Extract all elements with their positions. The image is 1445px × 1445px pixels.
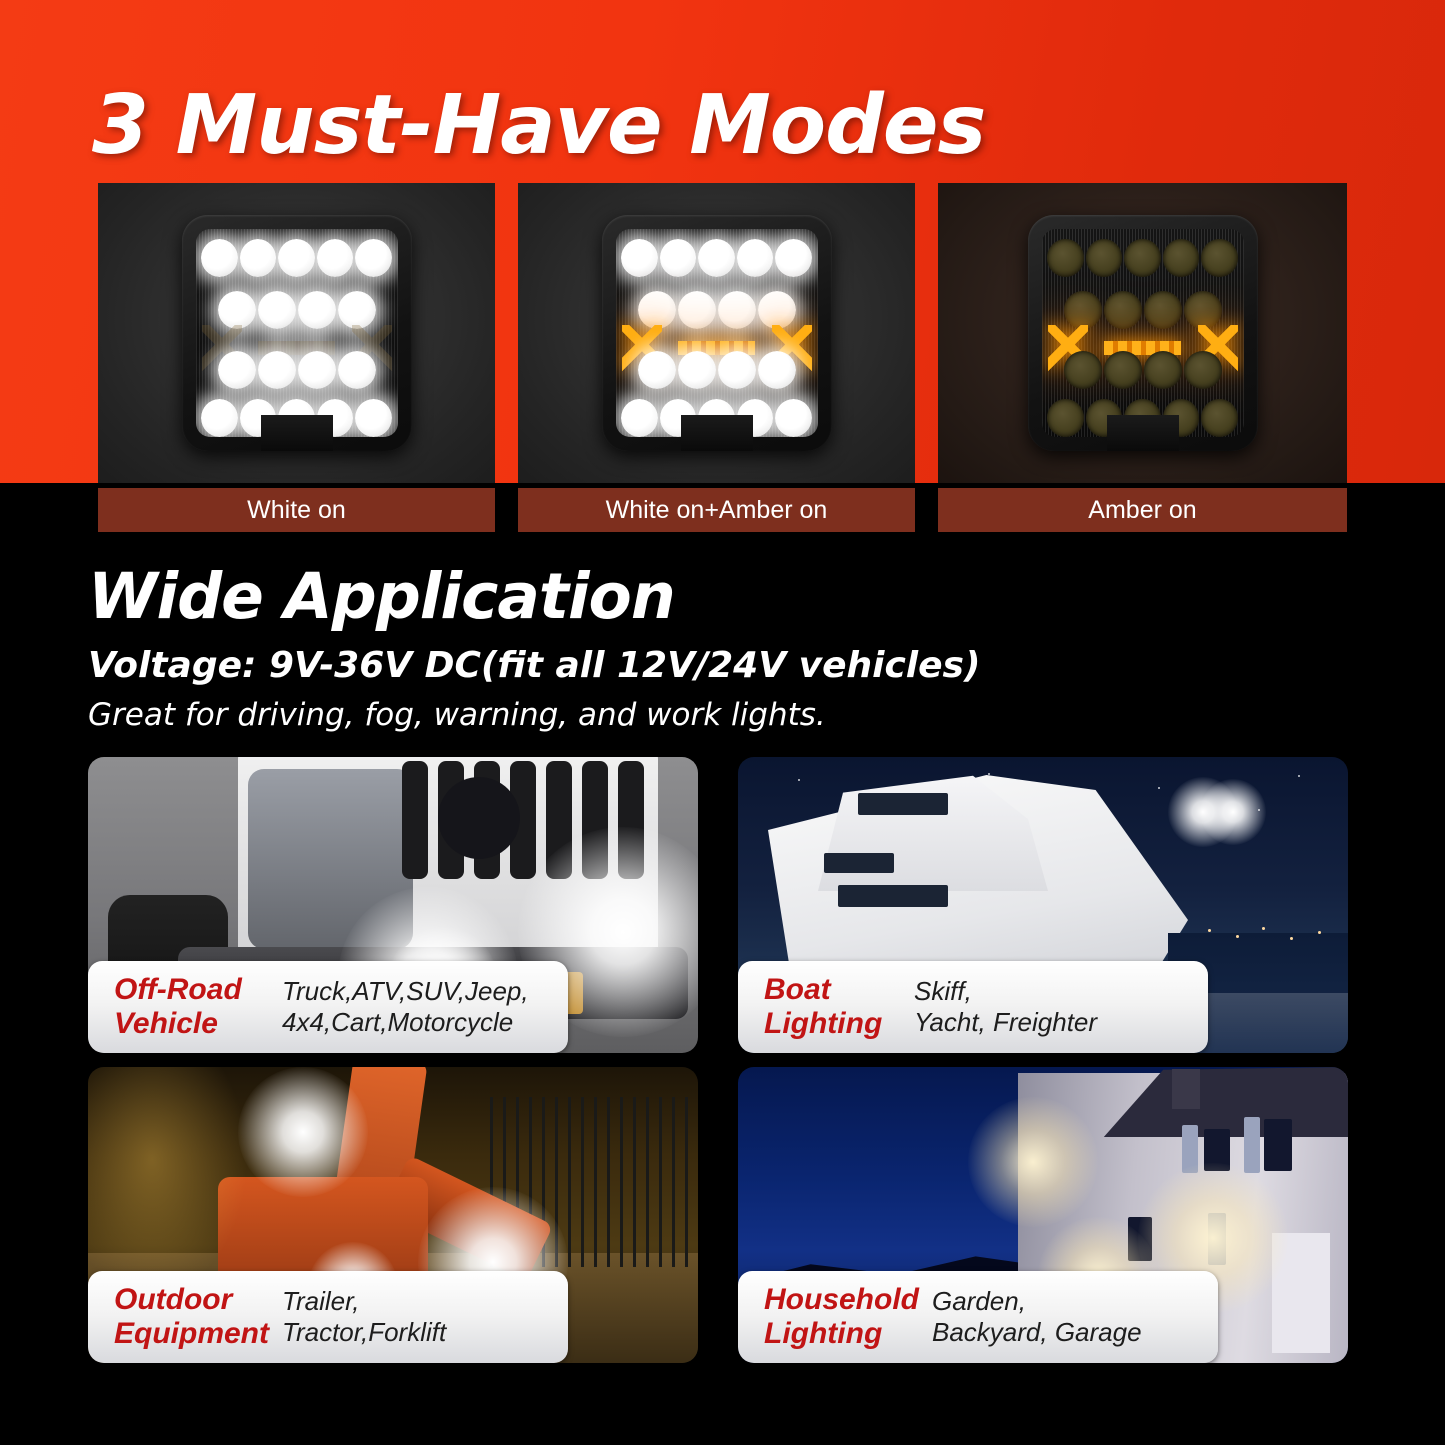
application-card-boat-lighting: Boat Lighting Skiff, Yacht, Freighter (738, 757, 1348, 1053)
card-title-line1: Boat (764, 973, 914, 1007)
application-card-outdoor-equipment: Outdoor Equipment Trailer, Tractor,Forkl… (88, 1067, 698, 1363)
led-row (1048, 291, 1238, 329)
mode-label-amber-on: Amber on (938, 488, 1347, 532)
led-row (622, 291, 812, 329)
product-infographic: 3 Must-Have Modes (0, 0, 1445, 1445)
voltage-spec-text: Voltage: 9V-36V DC(fit all 12V/24V vehic… (88, 645, 980, 686)
card-title-line1: Household (764, 1283, 932, 1317)
section-heading-wide-application: Wide Application (88, 560, 675, 633)
led-lamp-white-amber (602, 215, 832, 451)
card-subtitle: Garden, Backyard, Garage (932, 1286, 1142, 1348)
application-card-off-road-vehicle: Off-Road Vehicle Truck,ATV,SUV,Jeep, 4x4… (88, 757, 698, 1053)
led-row (1048, 239, 1238, 277)
led-row (622, 239, 812, 277)
application-card-household-lighting: Household Lighting Garden, Backyard, Gar… (738, 1067, 1348, 1363)
card-sub-line2: 4x4,Cart,Motorcycle (282, 1007, 529, 1038)
mode-panel-amber-on (938, 183, 1347, 483)
led-lamp-amber-on (1028, 215, 1258, 451)
led-row (202, 351, 392, 389)
lamp-mount-bracket (261, 415, 333, 451)
lamp-mount-bracket (1107, 415, 1179, 451)
card-title-line2: Lighting (764, 1007, 914, 1041)
mode-panels (0, 183, 1445, 483)
card-sub-line1: Garden, (932, 1286, 1142, 1317)
card-title-line2: Vehicle (114, 1007, 282, 1041)
card-caption: Outdoor Equipment Trailer, Tractor,Forkl… (88, 1271, 568, 1363)
mode-label-white-amber: White on+Amber on (518, 488, 915, 532)
led-row (622, 351, 812, 389)
led-lamp-white-on (182, 215, 412, 451)
card-title-line2: Lighting (764, 1317, 932, 1351)
card-title: Boat Lighting (738, 973, 914, 1040)
card-caption: Household Lighting Garden, Backyard, Gar… (738, 1271, 1218, 1363)
mode-label-white-on: White on (98, 488, 495, 532)
card-sub-line1: Trailer, (282, 1286, 446, 1317)
card-title-line1: Outdoor (114, 1283, 282, 1317)
card-title-line1: Off-Road (114, 973, 282, 1007)
card-title: Outdoor Equipment (88, 1283, 282, 1350)
mode-panel-white-on (98, 183, 495, 483)
lamp-mount-bracket (681, 415, 753, 451)
card-subtitle: Skiff, Yacht, Freighter (914, 976, 1097, 1038)
led-row (202, 291, 392, 329)
mode-panel-white-amber (518, 183, 915, 483)
lamp-lens (196, 229, 398, 437)
card-sub-line2: Tractor,Forklift (282, 1317, 446, 1348)
card-subtitle: Trailer, Tractor,Forklift (282, 1286, 446, 1348)
lamp-lens (1042, 229, 1244, 437)
card-caption: Off-Road Vehicle Truck,ATV,SUV,Jeep, 4x4… (88, 961, 568, 1053)
card-subtitle: Truck,ATV,SUV,Jeep, 4x4,Cart,Motorcycle (282, 976, 529, 1038)
card-caption: Boat Lighting Skiff, Yacht, Freighter (738, 961, 1208, 1053)
page-title: 3 Must-Have Modes (92, 78, 1092, 173)
card-title: Household Lighting (738, 1283, 932, 1350)
lamp-lens (616, 229, 818, 437)
card-sub-line1: Skiff, (914, 976, 1097, 1007)
usage-description-text: Great for driving, fog, warning, and wor… (88, 697, 826, 733)
card-title-line2: Equipment (114, 1317, 282, 1351)
card-sub-line2: Yacht, Freighter (914, 1007, 1097, 1038)
card-sub-line2: Backyard, Garage (932, 1317, 1142, 1348)
card-sub-line1: Truck,ATV,SUV,Jeep, (282, 976, 529, 1007)
card-title: Off-Road Vehicle (88, 973, 282, 1040)
led-row (202, 239, 392, 277)
led-row (1048, 351, 1238, 389)
